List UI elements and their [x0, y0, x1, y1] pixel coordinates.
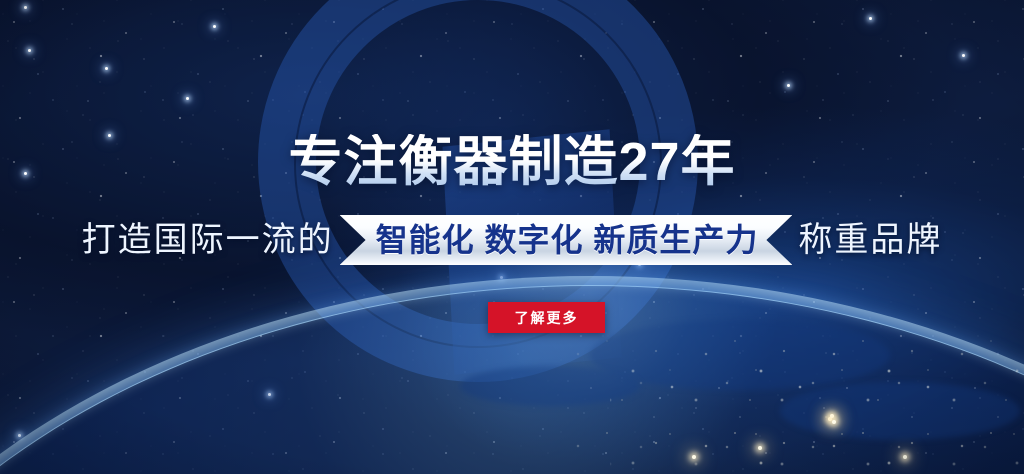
- bright-star: [105, 67, 108, 70]
- ribbon-spacer: [584, 224, 594, 256]
- bright-star: [213, 25, 216, 28]
- subline-left-text: 打造国际一流的: [82, 223, 334, 257]
- coastline-shape: [460, 366, 640, 406]
- ribbon-spacer: [475, 224, 485, 256]
- megacity-light: [830, 414, 834, 418]
- ribbon-keyword-1: 智能化: [376, 224, 475, 256]
- bright-star: [500, 276, 503, 279]
- subline-right-text: 称重品牌: [798, 223, 942, 257]
- megacity-light: [903, 455, 907, 459]
- bright-star: [787, 84, 790, 87]
- learn-more-button[interactable]: 了解更多: [488, 302, 605, 333]
- page-title: 专注衡器制造27年: [0, 134, 1024, 191]
- hero-banner: 专注衡器制造27年 打造国际一流的 智能化 数字化 新质生产力 称重品牌 了解更…: [0, 0, 1024, 474]
- keywords-ribbon: 智能化 数字化 新质生产力: [340, 215, 793, 265]
- bright-star: [869, 17, 872, 20]
- bright-star: [24, 6, 27, 9]
- coastline-shape: [780, 382, 1020, 440]
- megacity-light: [692, 455, 696, 459]
- subline-row: 打造国际一流的 智能化 数字化 新质生产力 称重品牌: [0, 214, 1024, 266]
- bright-star: [962, 54, 965, 57]
- megacity-light: [832, 420, 836, 424]
- bright-star: [28, 49, 31, 52]
- ribbon-keyword-3: 新质生产力: [593, 224, 758, 256]
- ribbon-keyword-2: 数字化: [484, 224, 583, 256]
- megacity-light: [758, 446, 762, 450]
- bright-star: [186, 97, 189, 100]
- coastline-shape: [590, 320, 890, 390]
- bright-star: [18, 434, 21, 437]
